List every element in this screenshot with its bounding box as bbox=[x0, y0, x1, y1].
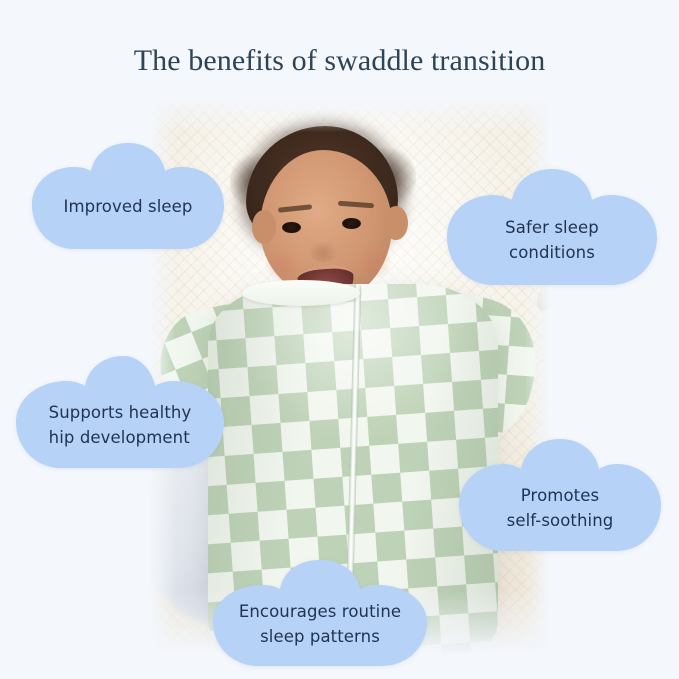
baby-cheek-left bbox=[262, 250, 302, 280]
benefit-label: Supports healthy hip development bbox=[49, 400, 192, 450]
benefit-label: Improved sleep bbox=[64, 194, 193, 219]
benefit-cloud-safer-sleep[interactable]: Safer sleep conditions bbox=[443, 165, 661, 293]
benefit-cloud-hip-development[interactable]: Supports healthy hip development bbox=[12, 352, 228, 476]
baby-ear-left bbox=[252, 210, 276, 244]
benefit-label: Encourages routine sleep patterns bbox=[239, 599, 401, 649]
benefit-label: Safer sleep conditions bbox=[505, 215, 599, 265]
benefit-cloud-self-soothing[interactable]: Promotes self-soothing bbox=[455, 435, 665, 559]
baby-eye-right bbox=[342, 218, 361, 229]
baby-ear-right bbox=[384, 206, 408, 240]
baby-nose bbox=[308, 240, 338, 262]
infographic-canvas: The benefits of swaddle transition Impro… bbox=[0, 0, 679, 679]
sack-collar bbox=[242, 280, 360, 306]
benefit-cloud-improved-sleep[interactable]: Improved sleep bbox=[28, 139, 228, 255]
baby-eye-left bbox=[282, 222, 301, 233]
page-title: The benefits of swaddle transition bbox=[0, 44, 679, 78]
benefit-cloud-routine-sleep[interactable]: Encourages routine sleep patterns bbox=[209, 556, 431, 672]
baby-cheek-right bbox=[354, 248, 394, 278]
benefit-label: Promotes self-soothing bbox=[507, 483, 614, 533]
